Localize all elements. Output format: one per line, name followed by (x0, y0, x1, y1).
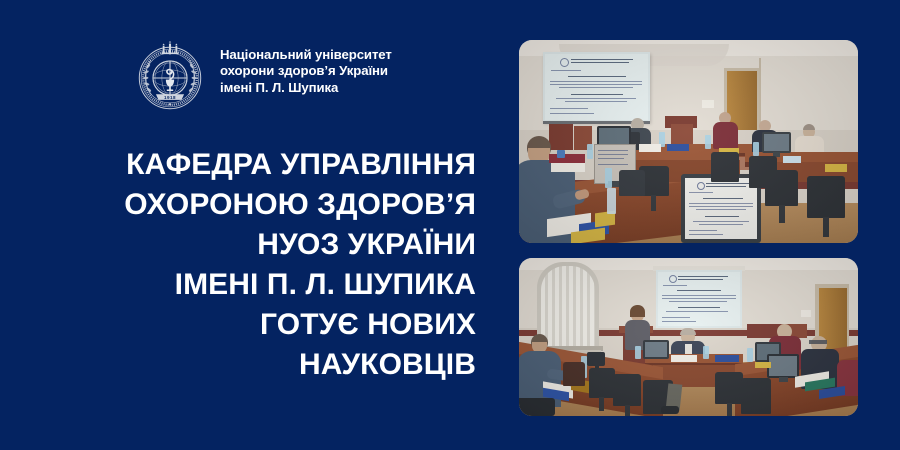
slide-logo-icon-3 (669, 275, 677, 283)
university-name-line-3: імені П. Л. Шупика (220, 80, 392, 96)
headline-line-1: КАФЕДРА УПРАВЛІННЯ (20, 145, 476, 185)
banner-root: 1918 Національний університет охорони зд… (0, 0, 900, 450)
headline-line-2: ОХОРОНОЮ ЗДОРОВ’Я (20, 185, 476, 225)
left-content-column: 1918 Національний університет охорони зд… (0, 0, 500, 450)
nuoz-circular-emblem-icon: 1918 (133, 41, 207, 115)
university-name-line-2: охорони здоров’я України (220, 63, 392, 79)
svg-text:1918: 1918 (164, 95, 176, 100)
slide-logo-icon-2 (697, 182, 705, 190)
conference-room-meeting-photo-top (519, 40, 858, 243)
headline-line-4: ІМЕНІ П. Л. ШУПИКА (20, 265, 476, 305)
headline: КАФЕДРА УПРАВЛІННЯ ОХОРОНОЮ ЗДОРОВ’Я НУО… (20, 145, 476, 385)
university-name-line-1: Національний університет (220, 47, 392, 63)
brand-lockup: 1918 Національний університет охорони зд… (133, 41, 392, 115)
slide-logo-icon (560, 58, 569, 67)
headline-line-6: НАУКОВЦІВ (20, 345, 476, 385)
headline-line-3: НУОЗ УКРАЇНИ (20, 225, 476, 265)
university-name: Національний університет охорони здоров’… (220, 41, 392, 96)
conference-room-meeting-photo-bottom (519, 258, 858, 416)
headline-line-5: ГОТУЄ НОВИХ (20, 305, 476, 345)
